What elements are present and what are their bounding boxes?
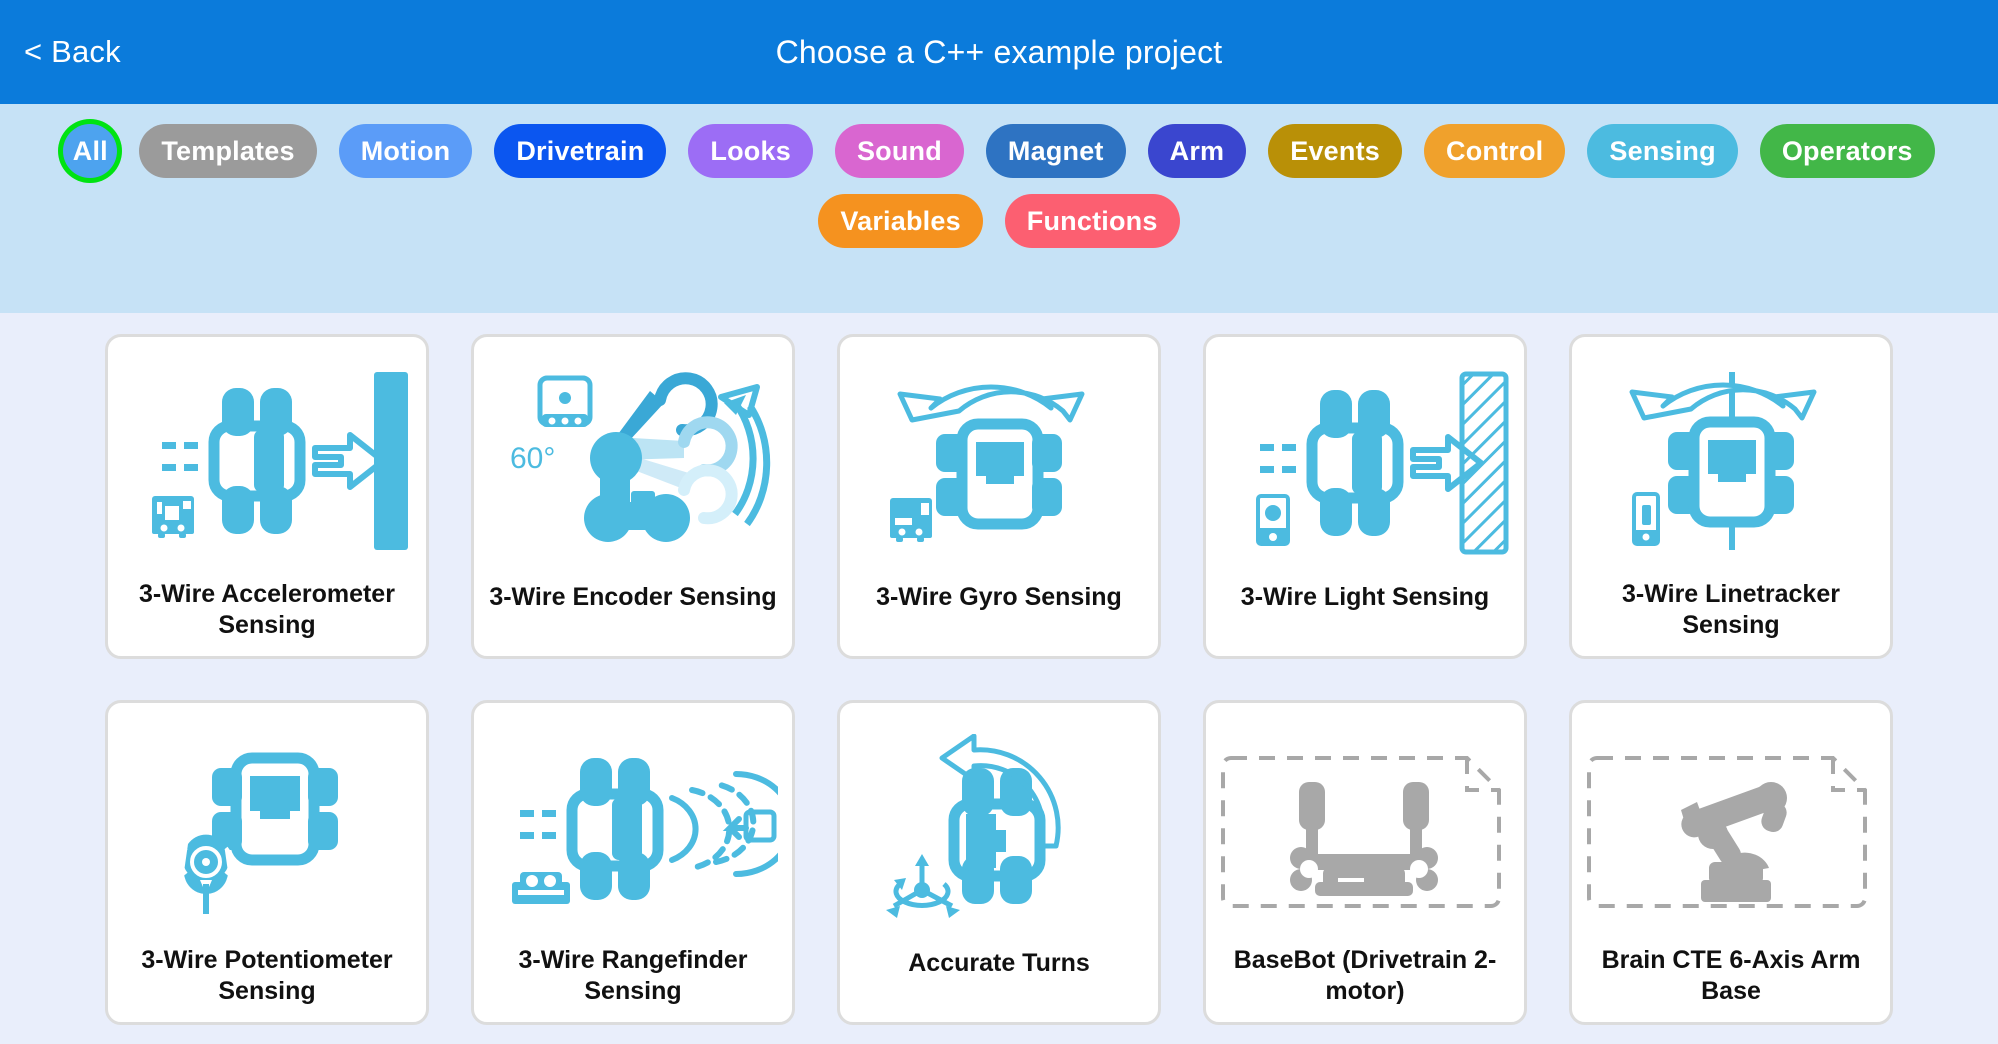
project-card-accelerometer[interactable]: 3-Wire Accelerometer Sensing — [105, 334, 429, 659]
example-project-grid: 3-Wire Accelerometer Sensing — [0, 334, 1998, 1025]
chip-sensing[interactable]: Sensing — [1587, 124, 1737, 178]
chip-operators[interactable]: Operators — [1760, 124, 1935, 178]
potentiometer-icon — [108, 703, 426, 945]
linetracker-icon — [1572, 337, 1890, 579]
card-title: 3-Wire Potentiometer Sensing — [108, 945, 426, 1022]
project-card-basebot[interactable]: BaseBot (Drivetrain 2-motor) — [1203, 700, 1527, 1025]
chip-arm[interactable]: Arm — [1148, 124, 1247, 178]
card-title: 3-Wire Accelerometer Sensing — [108, 579, 426, 656]
card-title: BaseBot (Drivetrain 2-motor) — [1206, 945, 1524, 1022]
page-title: Choose a C++ example project — [776, 34, 1223, 71]
card-title: 3-Wire Encoder Sensing — [474, 582, 792, 656]
chip-motion[interactable]: Motion — [339, 124, 473, 178]
chip-looks[interactable]: Looks — [688, 124, 813, 178]
chip-magnet[interactable]: Magnet — [986, 124, 1126, 178]
card-title: Brain CTE 6-Axis Arm Base — [1572, 945, 1890, 1022]
project-card-accurate-turns[interactable]: Accurate Turns — [837, 700, 1161, 1025]
card-title: Accurate Turns — [840, 948, 1158, 1022]
card-title: 3-Wire Rangefinder Sensing — [474, 945, 792, 1022]
card-title: 3-Wire Linetracker Sensing — [1572, 579, 1890, 656]
chip-control[interactable]: Control — [1424, 124, 1565, 178]
card-title: 3-Wire Gyro Sensing — [840, 582, 1158, 656]
category-chip-row: All Templates Motion Drivetrain Looks So… — [16, 124, 1982, 248]
project-card-rangefinder[interactable]: 3-Wire Rangefinder Sensing — [471, 700, 795, 1025]
accelerometer-icon — [108, 337, 426, 579]
project-card-gyro[interactable]: 3-Wire Gyro Sensing — [837, 334, 1161, 659]
project-card-arm-base[interactable]: Brain CTE 6-Axis Arm Base — [1569, 700, 1893, 1025]
project-card-potentiometer[interactable]: 3-Wire Potentiometer Sensing — [105, 700, 429, 1025]
rangefinder-icon — [474, 703, 792, 945]
category-filter-bar: All Templates Motion Drivetrain Looks So… — [0, 104, 1998, 313]
chip-all[interactable]: All — [63, 124, 117, 178]
card-title: 3-Wire Light Sensing — [1206, 582, 1524, 656]
project-card-light[interactable]: 3-Wire Light Sensing — [1203, 334, 1527, 659]
chip-drivetrain[interactable]: Drivetrain — [494, 124, 666, 178]
basebot-icon — [1206, 703, 1524, 945]
gyro-icon — [840, 337, 1158, 582]
accurate-turns-icon — [840, 703, 1158, 948]
encoder-icon: 60° — [474, 337, 792, 582]
light-sensor-icon — [1206, 337, 1524, 582]
chip-events[interactable]: Events — [1268, 124, 1402, 178]
chip-templates[interactable]: Templates — [139, 124, 316, 178]
back-button[interactable]: < Back — [14, 28, 131, 76]
project-card-linetracker[interactable]: 3-Wire Linetracker Sensing — [1569, 334, 1893, 659]
chip-functions[interactable]: Functions — [1005, 194, 1180, 248]
chip-sound[interactable]: Sound — [835, 124, 964, 178]
robot-arm-icon — [1572, 703, 1890, 945]
encoder-angle-label: 60° — [510, 442, 555, 475]
chip-variables[interactable]: Variables — [818, 194, 982, 248]
example-project-list: 3-Wire Accelerometer Sensing — [0, 313, 1998, 1044]
app-header: < Back Choose a C++ example project — [0, 0, 1998, 104]
project-card-encoder[interactable]: 60° 3-Wire Encoder Sensing — [471, 334, 795, 659]
